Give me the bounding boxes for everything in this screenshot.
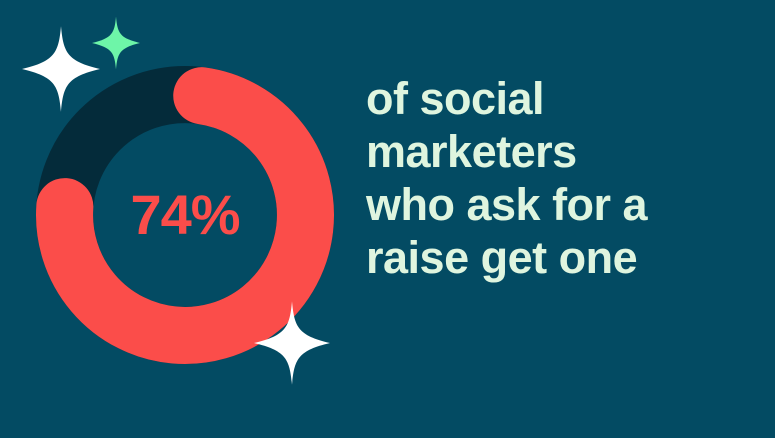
headline-line-2: marketers xyxy=(366,125,766,178)
headline-line-1: of social xyxy=(366,72,766,125)
headline-line-4: raise get one xyxy=(366,231,766,284)
infographic-canvas: 74% of social marketers who ask for a ra… xyxy=(0,0,775,438)
sparkle-icon xyxy=(254,300,330,386)
sparkle-icon xyxy=(22,25,100,113)
headline-line-3: who ask for a xyxy=(366,178,766,231)
sparkle-icon xyxy=(92,15,140,71)
headline: of social marketers who ask for a raise … xyxy=(366,72,766,284)
